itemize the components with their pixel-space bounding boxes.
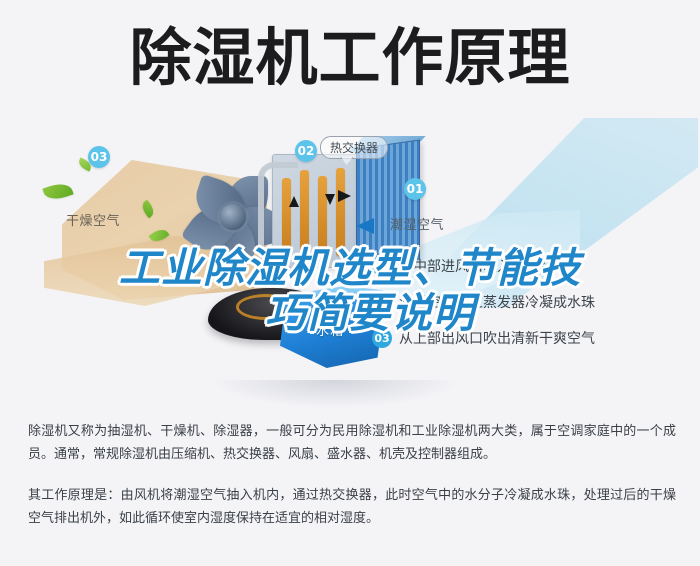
step-item: 01 从中部进风口吸入潮湿空气 [372, 256, 692, 276]
leaf-icon [42, 180, 73, 203]
step-badge: 02 [372, 292, 392, 312]
step-text: 从上部出风口吹出清新干爽空气 [399, 328, 595, 348]
fan-hub [220, 204, 246, 230]
floor-reflection [210, 380, 460, 408]
step-item: 03 从上部出风口吹出清新干爽空气 [372, 328, 692, 348]
airflow-arrow-down-icon [325, 194, 335, 205]
copper-coil [336, 168, 345, 256]
callout-label-heat-exchanger: 热交换器 [320, 136, 388, 159]
step-text: 潮湿空气经过蒸发器冷凝成水珠 [399, 292, 595, 312]
page-title: 除湿机工作原理 [0, 24, 700, 92]
body-paragraph-1: 除湿机又称为抽湿机、干燥机、除湿器，一般可分为民用除湿机和工业除湿机两大类，属于… [28, 420, 676, 466]
dehumidifier-diagram: 水箱 03 干燥空气 02 热交换器 01 潮湿空气 01 从中部进风口吸入潮湿… [0, 118, 700, 408]
step-list: 01 从中部进风口吸入潮湿空气 02 潮湿空气经过蒸发器冷凝成水珠 03 从上部… [372, 256, 692, 364]
step-item: 02 潮湿空气经过蒸发器冷凝成水珠 [372, 292, 692, 312]
copper-coil [318, 176, 327, 254]
refrigerant-pipe [258, 162, 298, 274]
callout-badge-03: 03 [88, 146, 110, 168]
page-title-text: 除湿机工作原理 [129, 24, 570, 92]
body-paragraph-2: 其工作原理是：由风机将潮湿空气抽入机内，通过热交换器，此时空气中的水分子冷凝成水… [28, 484, 676, 530]
step-text: 从中部进风口吸入潮湿空气 [399, 256, 567, 276]
callout-badge-01: 01 [404, 178, 426, 200]
step-badge: 03 [372, 328, 392, 348]
callout-badge-02: 02 [295, 140, 317, 162]
callout-label-dry-air: 干燥空气 [66, 210, 120, 229]
infographic-page: 除湿机工作原理 [0, 0, 700, 566]
copper-coil [300, 170, 309, 256]
step-badge: 01 [372, 256, 392, 276]
water-tank-label: 水箱 [316, 320, 344, 339]
body-copy: 除湿机又称为抽湿机、干燥机、除湿器，一般可分为民用除湿机和工业除湿机两大类，属于… [28, 420, 676, 548]
airflow-arrow-up-icon [289, 196, 299, 207]
callout-label-humid-air: 潮湿空气 [390, 214, 444, 233]
intake-arrow-icon [356, 218, 374, 234]
copper-coil [282, 178, 291, 252]
airflow-arrow-right-icon [338, 190, 351, 202]
